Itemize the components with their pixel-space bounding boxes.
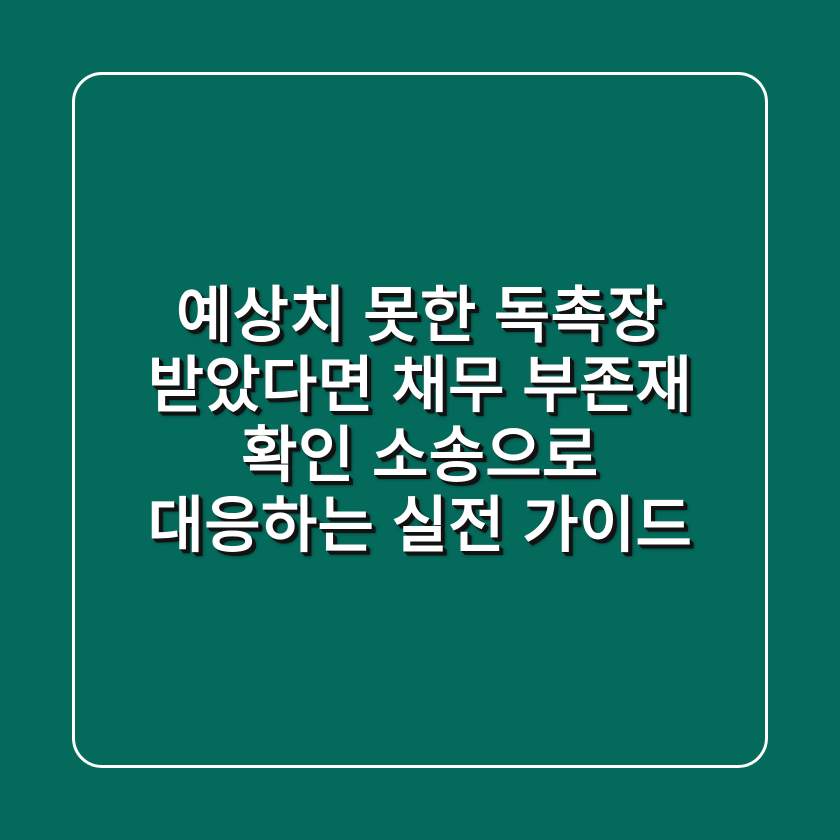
- thumbnail-card: 예상치 못한 독촉장 받았다면 채무 부존재 확인 소송으로 대응하는 실전 가…: [0, 0, 840, 840]
- headline-line-2: 받았다면 채무 부존재: [90, 350, 750, 420]
- headline-line-3: 확인 소송으로: [90, 420, 750, 490]
- headline-line-1: 예상치 못한 독촉장: [90, 280, 750, 350]
- headline-block: 예상치 못한 독촉장 받았다면 채무 부존재 확인 소송으로 대응하는 실전 가…: [0, 280, 840, 560]
- headline-line-4: 대응하는 실전 가이드: [90, 490, 750, 560]
